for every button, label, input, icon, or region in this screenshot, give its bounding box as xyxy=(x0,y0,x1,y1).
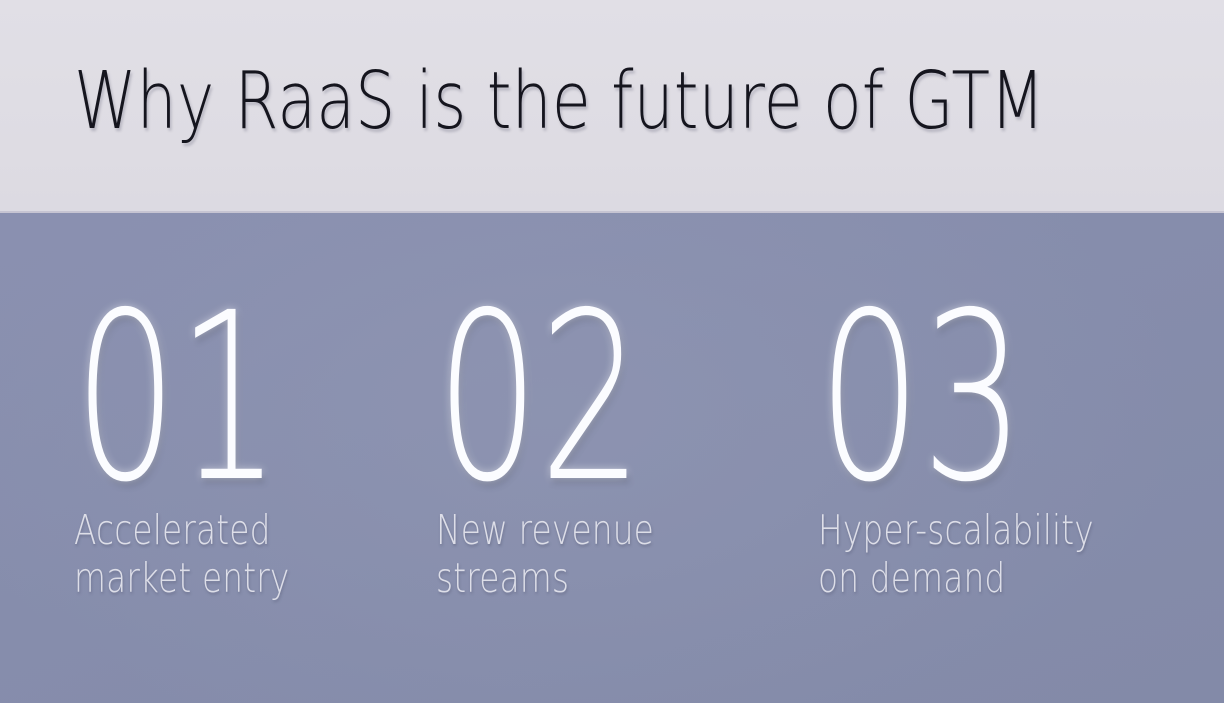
item-number-03: 03 xyxy=(818,303,1070,493)
item-label-01: Accelerated market entry xyxy=(74,507,346,603)
list-item: 02 New revenue streams xyxy=(436,303,776,603)
presentation-slide: Why RaaS is the future of GTM 01 Acceler… xyxy=(0,0,1224,703)
slide-header-band: Why RaaS is the future of GTM xyxy=(0,0,1224,213)
slide-body: 01 Accelerated market entry 02 New reven… xyxy=(0,213,1224,703)
page-title: Why RaaS is the future of GTM xyxy=(74,62,938,141)
item-number-01: 01 xyxy=(74,303,312,493)
list-item: 03 Hyper-scalability on demand xyxy=(818,303,1178,603)
list-item: 01 Accelerated market entry xyxy=(74,303,414,603)
item-number-02: 02 xyxy=(436,303,674,493)
item-label-02: New revenue streams xyxy=(436,507,708,603)
item-label-03: Hyper-scalability on demand xyxy=(818,507,1106,603)
numbered-item-list: 01 Accelerated market entry 02 New reven… xyxy=(0,213,1224,703)
